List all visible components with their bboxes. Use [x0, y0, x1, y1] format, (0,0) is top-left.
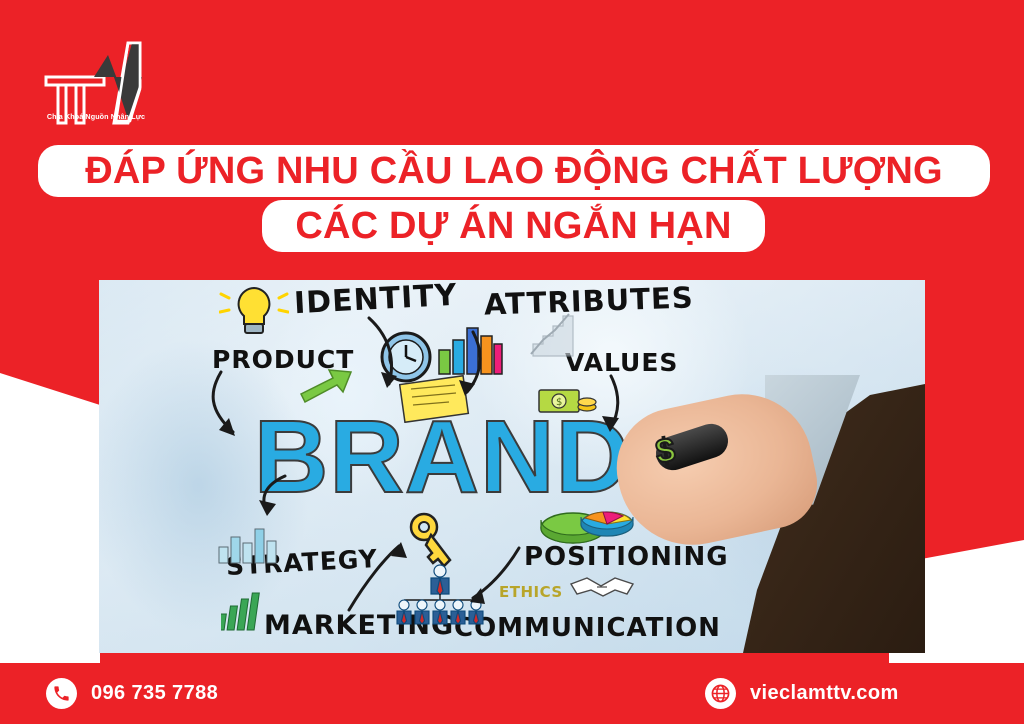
headline-line1: ĐÁP ỨNG NHU CẦU LAO ĐỘNG CHẤT LƯỢNG: [85, 152, 943, 190]
phone-icon: [46, 678, 77, 709]
logo-tagline: Chìa Khoá Nguồn Nhân Lực: [38, 112, 154, 121]
footer-phone-contact[interactable]: 096 735 7788: [46, 678, 218, 709]
poster-canvas: Chìa Khoá Nguồn Nhân Lực ĐÁP ỨNG NHU CẦU…: [0, 0, 1024, 724]
headline-banner-line2: CÁC DỰ ÁN NGẮN HẠN: [262, 200, 765, 252]
globe-icon: [705, 678, 736, 709]
headline-banner-line1: ĐÁP ỨNG NHU CẦU LAO ĐỘNG CHẤT LƯỢNG: [38, 145, 990, 197]
decorative-wedge-left: [0, 360, 100, 665]
headline-line2: CÁC DỰ ÁN NGẮN HẠN: [295, 207, 731, 245]
footer-website-contact[interactable]: vieclamttv.com: [705, 678, 899, 709]
brand-concept-photo: IDENTITY ATTRIBUTES PRODUCT VALUES STRAT…: [99, 280, 925, 653]
footer-phone-number: 096 735 7788: [91, 682, 218, 705]
footer-website-url: vieclamttv.com: [750, 682, 899, 705]
footer-bar: 096 735 7788 vieclamttv.com: [0, 663, 1024, 724]
